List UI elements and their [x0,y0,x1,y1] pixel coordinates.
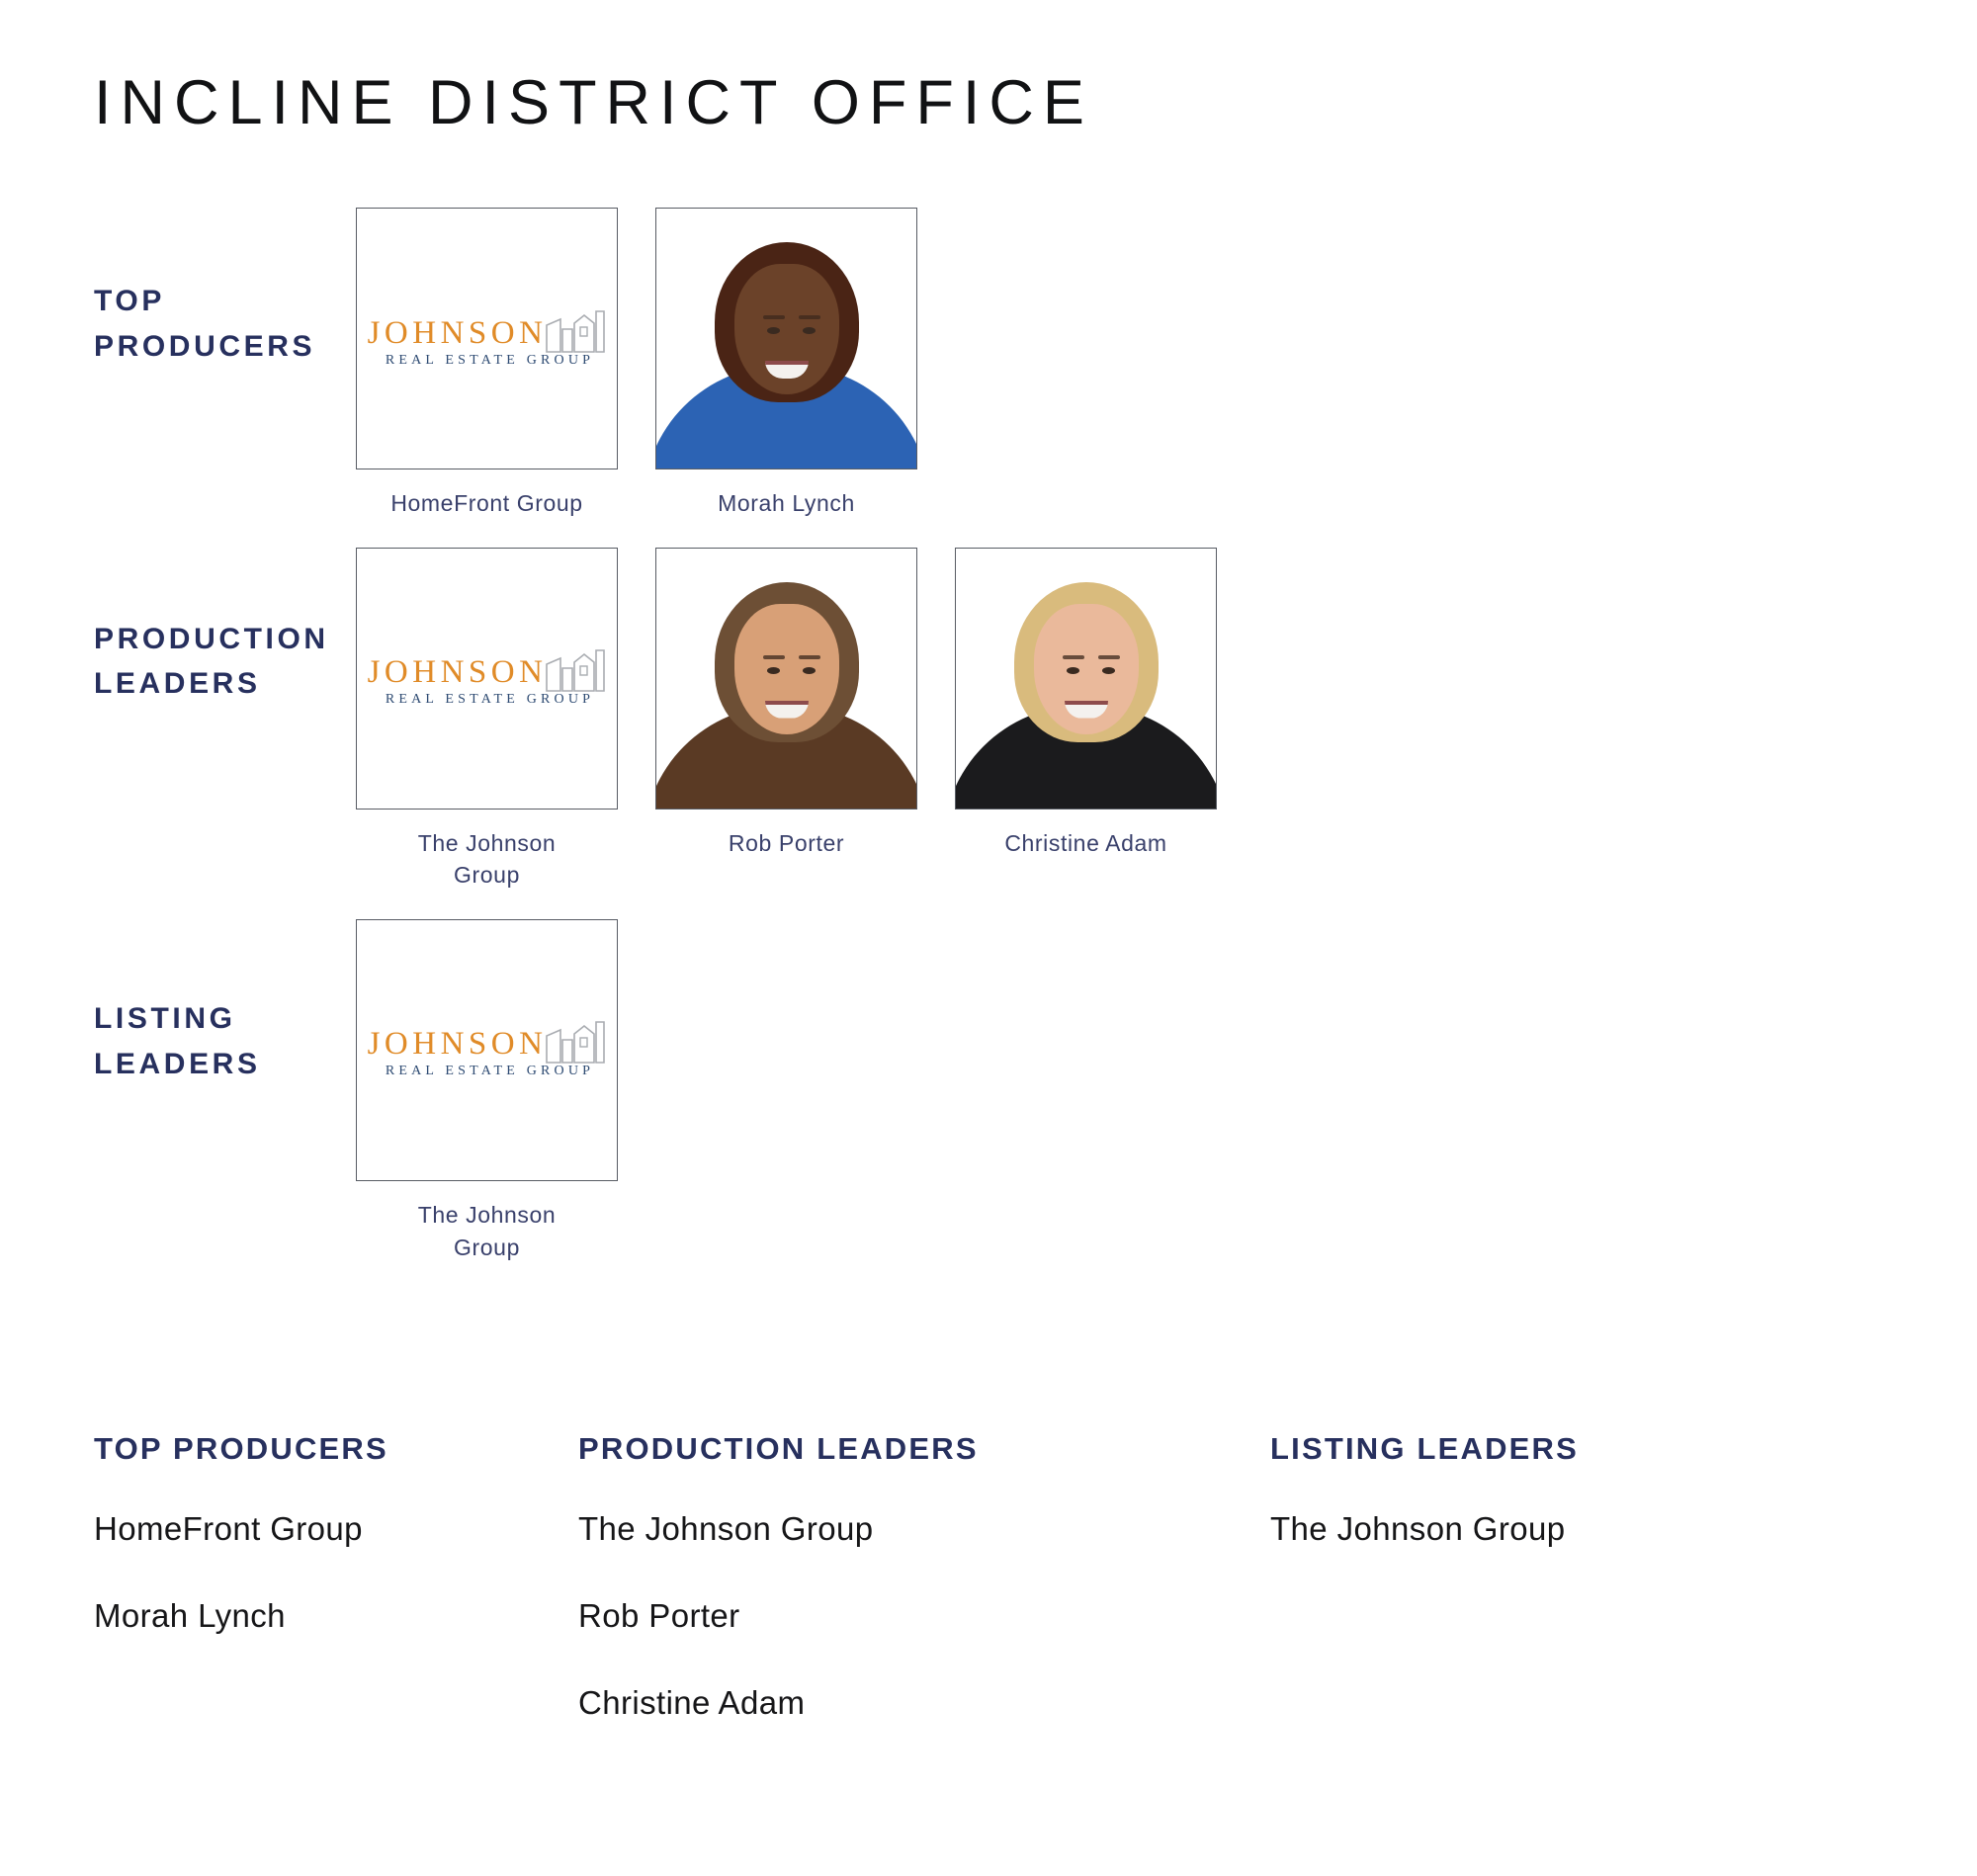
summary-item: The Johnson Group [578,1510,1270,1548]
portrait-photo-rob-porter [656,549,916,809]
johnson-real-estate-group-logo: JOHNSONREAL ESTATE GROUP [357,309,617,369]
card-media-frame[interactable]: JOHNSONREAL ESTATE GROUP [356,548,618,810]
summary-column-listing-leaders: LISTING LEADERSThe Johnson Group [1270,1431,1977,1771]
row-label-listing-leaders: LISTINGLEADERS [0,919,356,1086]
johnson-real-estate-group-logo: JOHNSONREAL ESTATE GROUP [357,1020,617,1079]
logo-wordmark: JOHNSON [368,656,548,689]
award-card[interactable]: JOHNSONREAL ESTATE GROUPThe Johnson Grou… [356,548,618,892]
summary-item: Christine Adam [578,1684,1270,1722]
card-caption: Christine Adam [955,827,1217,860]
johnson-real-estate-group-logo: JOHNSONREAL ESTATE GROUP [357,648,617,708]
card-group: JOHNSONREAL ESTATE GROUPThe Johnson Grou… [356,548,1217,892]
card-media-frame[interactable]: JOHNSONREAL ESTATE GROUP [356,208,618,469]
portrait-photo-morah-lynch [656,209,916,469]
card-caption: Morah Lynch [655,487,917,520]
card-caption: Rob Porter [655,827,917,860]
page-title: INCLINE DISTRICT OFFICE [94,67,1093,138]
award-card[interactable]: Christine Adam [955,548,1217,860]
logo-tagline: REAL ESTATE GROUP [386,692,594,708]
skyline-icon [545,309,606,353]
award-card[interactable]: JOHNSONREAL ESTATE GROUPThe Johnson Grou… [356,919,618,1263]
card-caption: The Johnson Group [393,827,581,892]
card-group: JOHNSONREAL ESTATE GROUPThe Johnson Grou… [356,919,618,1263]
row-label-line: PRODUCTION [94,617,356,662]
row-label-line: LISTING [94,996,356,1042]
card-media-frame[interactable]: JOHNSONREAL ESTATE GROUP [356,919,618,1181]
row-label-line: LEADERS [94,661,356,707]
award-row-production-leaders: PRODUCTIONLEADERSJOHNSONREAL ESTATE GROU… [0,548,1977,892]
skyline-icon [545,1020,606,1064]
summary-item: HomeFront Group [94,1510,578,1548]
row-label-line: TOP [94,279,356,324]
card-media-frame[interactable] [655,548,917,810]
summary-item: Rob Porter [578,1597,1270,1635]
award-card[interactable]: Rob Porter [655,548,917,860]
row-label-top-producers: TOPPRODUCERS [0,208,356,369]
row-label-line: LEADERS [94,1042,356,1087]
logo-tagline: REAL ESTATE GROUP [386,353,594,369]
award-rows: TOPPRODUCERSJOHNSONREAL ESTATE GROUPHome… [0,208,1977,1263]
award-row-listing-leaders: LISTINGLEADERSJOHNSONREAL ESTATE GROUPTh… [0,919,1977,1263]
summary-title: LISTING LEADERS [1270,1431,1977,1467]
summary-column-top-producers: TOP PRODUCERSHomeFront GroupMorah Lynch [0,1431,578,1771]
summary-title: TOP PRODUCERS [94,1431,578,1467]
logo-tagline: REAL ESTATE GROUP [386,1064,594,1079]
card-group: JOHNSONREAL ESTATE GROUPHomeFront GroupM… [356,208,917,520]
row-label-line: PRODUCERS [94,324,356,370]
summary-item: Morah Lynch [94,1597,578,1635]
portrait-photo-christine-adam [956,549,1216,809]
award-row-top-producers: TOPPRODUCERSJOHNSONREAL ESTATE GROUPHome… [0,208,1977,520]
logo-wordmark: JOHNSON [368,1028,548,1061]
logo-wordmark: JOHNSON [368,317,548,350]
row-label-production-leaders: PRODUCTIONLEADERS [0,548,356,707]
card-media-frame[interactable] [655,208,917,469]
summary-title: PRODUCTION LEADERS [578,1431,1270,1467]
award-card[interactable]: JOHNSONREAL ESTATE GROUPHomeFront Group [356,208,618,520]
card-caption: The Johnson Group [393,1199,581,1263]
summary-column-production-leaders: PRODUCTION LEADERSThe Johnson GroupRob P… [578,1431,1270,1771]
summary-item: The Johnson Group [1270,1510,1977,1548]
skyline-icon [545,648,606,692]
award-card[interactable]: Morah Lynch [655,208,917,520]
card-caption: HomeFront Group [356,487,618,520]
summary-lists: TOP PRODUCERSHomeFront GroupMorah LynchP… [0,1431,1977,1771]
card-media-frame[interactable] [955,548,1217,810]
